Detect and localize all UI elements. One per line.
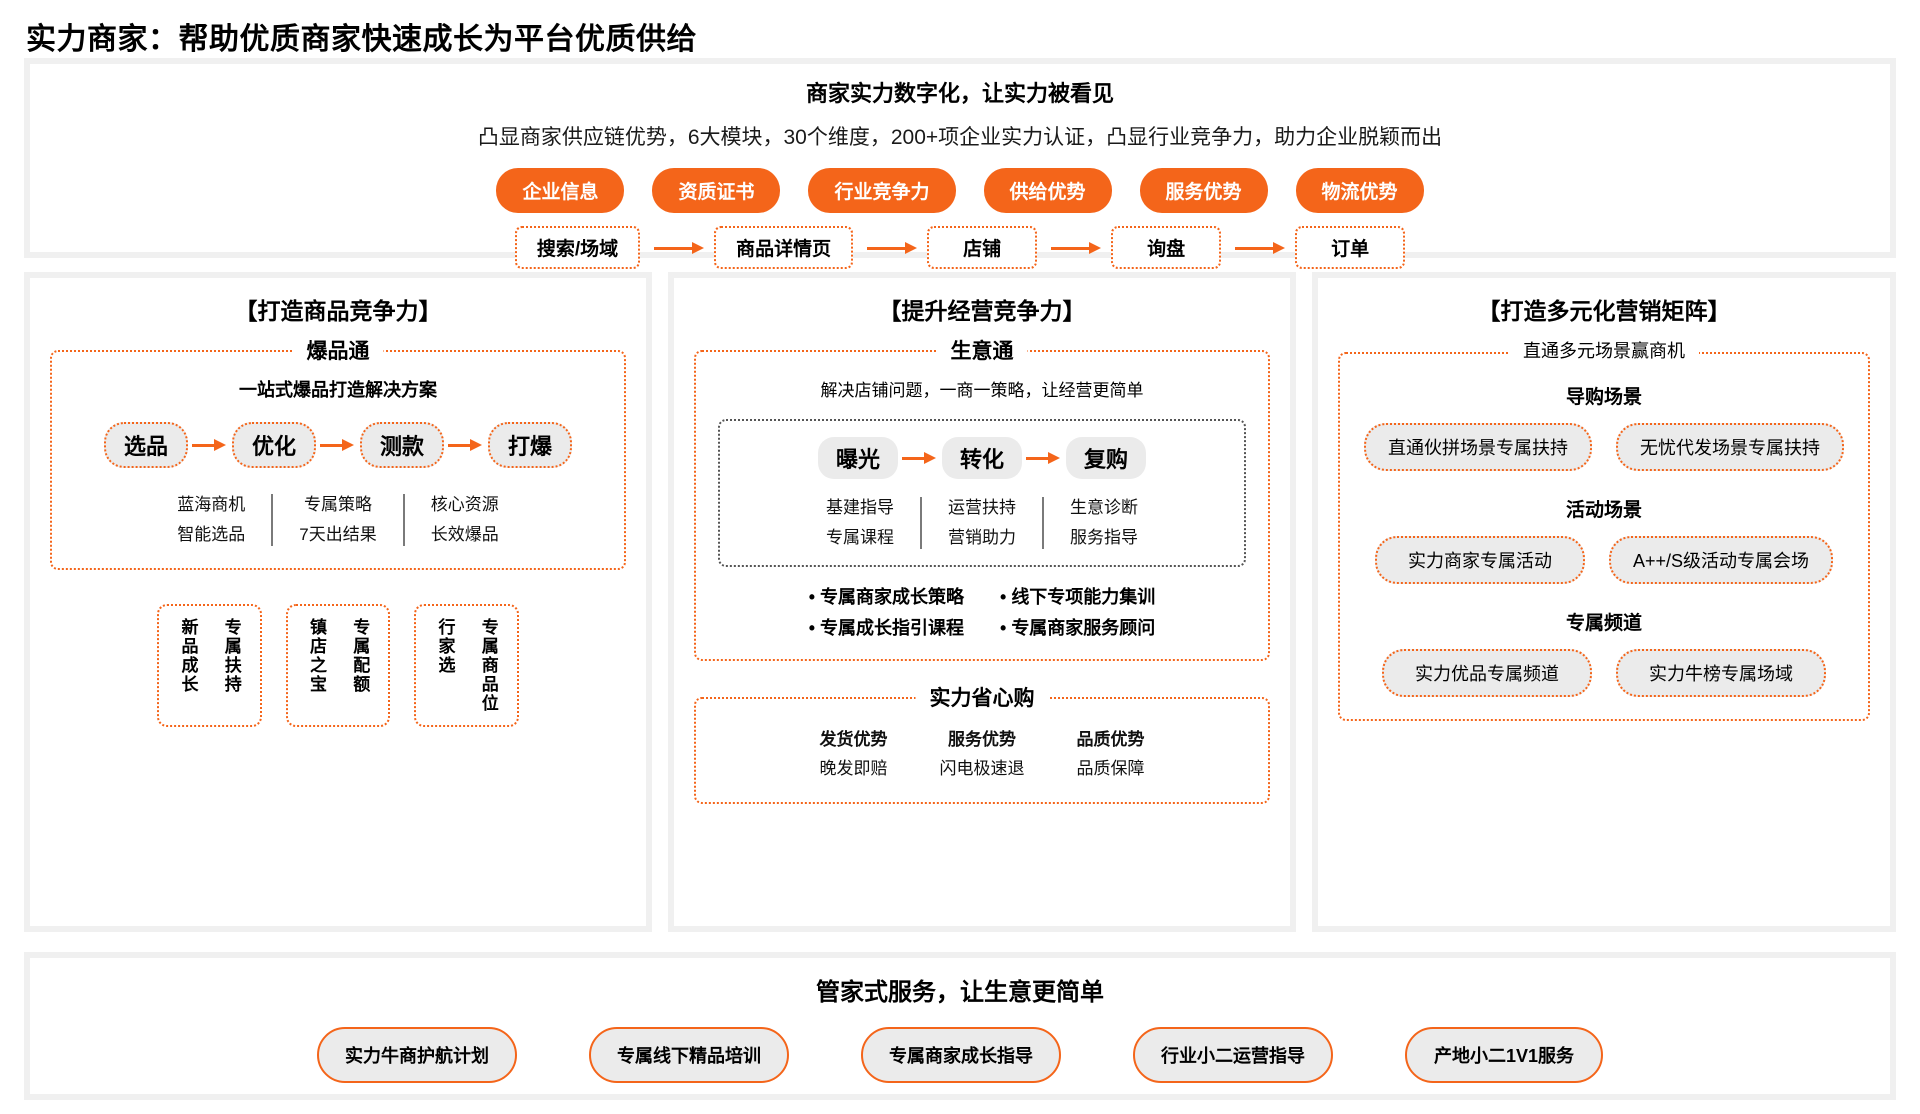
service-pill-escort-plan[interactable]: 实力牛商护航计划 [317, 1027, 517, 1083]
middle-column-title: 【提升经营竞争力】 [674, 278, 1290, 326]
service-pill-offline-training[interactable]: 专属线下精品培训 [589, 1027, 789, 1083]
detail-line: 发货优势 [820, 725, 888, 755]
vbox-text: 行家选 [434, 618, 455, 713]
scene-chip-niubang-field[interactable]: 实力牛榜专属场域 [1616, 649, 1826, 697]
detail-col-2: 服务优势 闪电极速退 [914, 725, 1051, 785]
shengxingou-detail-columns: 发货优势 晚发即赔 服务优势 闪电极速退 品质优势 品质保障 [696, 725, 1268, 785]
scene-chip-premium-channel[interactable]: 实力优品专属频道 [1382, 649, 1592, 697]
arrow-right-icon [188, 435, 232, 455]
detail-col-3: 核心资源 长效爆品 [405, 490, 525, 550]
detail-col-1: 基建指导 专属课程 [800, 493, 920, 553]
module-pill-industry-competitiveness[interactable]: 行业竞争力 [808, 168, 955, 213]
scene-chip-grade-venue[interactable]: A++/S级活动专属会场 [1609, 536, 1833, 584]
detail-line: 生意诊断 [1070, 493, 1138, 523]
baopintong-subtitle: 一站式爆品打造解决方案 [52, 376, 624, 402]
detail-line: 核心资源 [431, 490, 499, 520]
shengyitong-detail-columns: 基建指导 专属课程 运营扶持 营销助力 生意诊断 服务指导 [720, 493, 1244, 553]
baopintong-step-flow: 选品 优化 测款 打爆 [52, 422, 624, 468]
step-conversion[interactable]: 转化 [942, 437, 1022, 479]
baopintong-card: 爆品通 一站式爆品打造解决方案 选品 优化 测款 打爆 蓝海商机 [50, 350, 626, 570]
flow-step-order[interactable]: 订单 [1295, 226, 1405, 269]
detail-col-1: 蓝海商机 智能选品 [151, 490, 271, 550]
detail-line: 闪电极速退 [940, 754, 1025, 784]
multi-scene-legend: 直通多元场景赢商机 [1509, 337, 1699, 363]
top-overview-panel: 商家实力数字化，让实力被看见 凸显商家供应链优势，6大模块，30个维度，200+… [24, 58, 1896, 258]
vbox-text: 专属配额 [349, 618, 370, 713]
detail-line: 基建指导 [826, 493, 894, 523]
scene-row-activity: 实力商家专属活动 A++/S级活动专属会场 [1340, 536, 1868, 584]
detail-line: 专属课程 [826, 523, 894, 553]
column-product-competitiveness: 【打造商品竞争力】 爆品通 一站式爆品打造解决方案 选品 优化 测款 打爆 [24, 272, 652, 932]
arrow-right-icon [1037, 238, 1111, 258]
step-explode[interactable]: 打爆 [488, 422, 572, 468]
shengxingou-card: 实力省心购 发货优势 晚发即赔 服务优势 闪电极速退 品质优势 品质保障 [694, 697, 1270, 805]
arrow-right-icon [1221, 238, 1295, 258]
detail-line: 晚发即赔 [820, 754, 888, 784]
column-operation-competitiveness: 【提升经营竞争力】 生意通 解决店铺问题，一商一策略，让经营更简单 曝光 转化 … [668, 272, 1296, 932]
shengyitong-subtitle: 解决店铺问题，一商一策略，让经营更简单 [696, 376, 1268, 401]
detail-col-3: 生意诊断 服务指导 [1044, 493, 1164, 553]
baopintong-detail-columns: 蓝海商机 智能选品 专属策略 7天出结果 核心资源 长效爆品 [52, 490, 624, 550]
scene-group-title-channel: 专属频道 [1340, 608, 1868, 635]
detail-line: 长效爆品 [431, 520, 499, 550]
service-pill-row: 实力牛商护航计划 专属线下精品培训 专属商家成长指导 行业小二运营指导 产地小二… [317, 1027, 1603, 1083]
flow-step-shop[interactable]: 店铺 [927, 226, 1037, 269]
right-column-title: 【打造多元化营销矩阵】 [1318, 278, 1890, 326]
detail-line: 运营扶持 [948, 493, 1016, 523]
three-column-area: 【打造商品竞争力】 爆品通 一站式爆品打造解决方案 选品 优化 测款 打爆 [24, 272, 1896, 932]
arrow-right-icon [640, 238, 714, 258]
step-select-product[interactable]: 选品 [104, 422, 188, 468]
detail-line: 服务指导 [1070, 523, 1138, 553]
bullet-item: 专属成长指引课程 [809, 614, 964, 640]
bullet-item: 专属商家成长策略 [809, 583, 964, 609]
module-pill-service-advantage[interactable]: 服务优势 [1140, 168, 1268, 213]
detail-line: 专属策略 [299, 490, 376, 520]
top-subheading: 凸显商家供应链优势，6大模块，30个维度，200+项企业实力认证，凸显行业竞争力… [478, 121, 1442, 151]
arrow-right-icon [1022, 448, 1066, 468]
vbox-text: 镇店之宝 [306, 618, 327, 713]
vbox-text: 新品成长 [177, 618, 198, 713]
module-pill-enterprise-info[interactable]: 企业信息 [496, 168, 624, 213]
service-pill-industry-operation[interactable]: 行业小二运营指导 [1133, 1027, 1333, 1083]
buyer-journey-flow: 搜索/场域 商品详情页 店铺 询盘 订单 [515, 226, 1405, 269]
scene-chip-zhitong-huopin[interactable]: 直通伙拼场景专属扶持 [1364, 423, 1592, 471]
left-vertical-box-row: 新品成长 专属扶持 镇店之宝 专属配额 行家选 专属商品位 [30, 604, 646, 727]
detail-line: 蓝海商机 [177, 490, 245, 520]
baopintong-legend: 爆品通 [293, 335, 384, 365]
shengyitong-step-flow: 曝光 转化 复购 [720, 437, 1244, 479]
multi-scene-card: 直通多元场景赢商机 导购场景 直通伙拼场景专属扶持 无忧代发场景专属扶持 活动场… [1338, 352, 1870, 721]
service-pill-growth-guidance[interactable]: 专属商家成长指导 [861, 1027, 1061, 1083]
bullet-row: 专属商家成长策略 线下专项能力集训 [696, 583, 1268, 609]
module-pill-row: 企业信息 资质证书 行业竞争力 供给优势 服务优势 物流优势 [496, 168, 1423, 213]
vbox-text: 专属扶持 [221, 618, 242, 713]
detail-col-3: 品质优势 品质保障 [1051, 725, 1171, 785]
detail-line: 7天出结果 [299, 520, 376, 550]
bullet-item: 线下专项能力集训 [1000, 583, 1155, 609]
detail-line: 智能选品 [177, 520, 245, 550]
vbox-new-product[interactable]: 新品成长 专属扶持 [157, 604, 262, 727]
arrow-right-icon [316, 435, 360, 455]
top-heading: 商家实力数字化，让实力被看见 [806, 76, 1114, 108]
butler-service-panel: 管家式服务，让生意更简单 实力牛商护航计划 专属线下精品培训 专属商家成长指导 … [24, 952, 1896, 1100]
detail-line: 品质保障 [1077, 754, 1145, 784]
vbox-expert-pick[interactable]: 行家选 专属商品位 [414, 604, 519, 727]
step-repurchase[interactable]: 复购 [1066, 437, 1146, 479]
shengyitong-card: 生意通 解决店铺问题，一商一策略，让经营更简单 曝光 转化 复购 基建指 [694, 350, 1270, 661]
flow-step-inquiry[interactable]: 询盘 [1111, 226, 1221, 269]
slide-canvas: 实力商家：帮助优质商家快速成长为平台优质供给 商家实力数字化，让实力被看见 凸显… [0, 0, 1920, 1114]
arrow-right-icon [898, 448, 942, 468]
column-marketing-matrix: 【打造多元化营销矩阵】 直通多元场景赢商机 导购场景 直通伙拼场景专属扶持 无忧… [1312, 272, 1896, 932]
step-optimize[interactable]: 优化 [232, 422, 316, 468]
shengyitong-legend: 生意通 [937, 335, 1028, 365]
scene-chip-wuyou-daifa[interactable]: 无忧代发场景专属扶持 [1616, 423, 1844, 471]
left-column-title: 【打造商品竞争力】 [30, 278, 646, 326]
detail-line: 品质优势 [1077, 725, 1145, 755]
detail-line: 服务优势 [940, 725, 1025, 755]
service-pill-origin-1v1[interactable]: 产地小二1V1服务 [1405, 1027, 1603, 1083]
scene-row-guide: 直通伙拼场景专属扶持 无忧代发场景专属扶持 [1340, 423, 1868, 471]
flow-step-search[interactable]: 搜索/场域 [515, 226, 640, 269]
scene-group-title-activity: 活动场景 [1340, 495, 1868, 522]
bullet-item: 专属商家服务顾问 [1000, 614, 1155, 640]
detail-col-2: 运营扶持 营销助力 [922, 493, 1042, 553]
shengyitong-inner-box: 曝光 转化 复购 基建指导 专属课程 [718, 419, 1246, 567]
detail-col-2: 专属策略 7天出结果 [273, 490, 402, 550]
module-pill-supply-advantage[interactable]: 供给优势 [984, 168, 1112, 213]
module-pill-logistics-advantage[interactable]: 物流优势 [1296, 168, 1424, 213]
step-exposure[interactable]: 曝光 [818, 437, 898, 479]
step-test-style[interactable]: 测款 [360, 422, 444, 468]
module-pill-qualification[interactable]: 资质证书 [652, 168, 780, 213]
arrow-right-icon [853, 238, 927, 258]
detail-col-1: 发货优势 晚发即赔 [794, 725, 914, 785]
bullet-row: 专属成长指引课程 专属商家服务顾问 [696, 614, 1268, 640]
flow-step-product-detail[interactable]: 商品详情页 [714, 226, 853, 269]
scene-row-channel: 实力优品专属频道 实力牛榜专属场域 [1340, 649, 1868, 697]
scene-chip-merchant-activity[interactable]: 实力商家专属活动 [1375, 536, 1585, 584]
detail-line: 营销助力 [948, 523, 1016, 553]
shengxingou-legend: 实力省心购 [916, 682, 1049, 712]
arrow-right-icon [444, 435, 488, 455]
vbox-text: 专属商品位 [478, 618, 499, 713]
bottom-title: 管家式服务，让生意更简单 [816, 972, 1104, 1007]
vbox-store-treasure[interactable]: 镇店之宝 专属配额 [286, 604, 391, 727]
scene-group-title-guide: 导购场景 [1340, 382, 1868, 409]
shengyitong-bullets: 专属商家成长策略 线下专项能力集训 专属成长指引课程 专属商家服务顾问 [696, 583, 1268, 640]
